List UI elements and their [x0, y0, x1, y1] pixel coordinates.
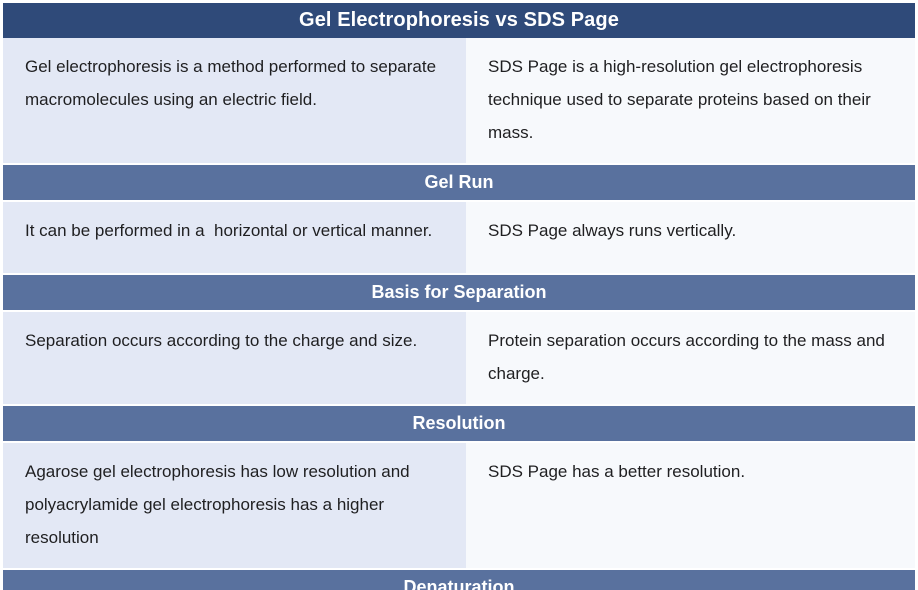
table-row: It can be performed in a horizontal or v…	[3, 202, 915, 273]
section-header-resolution: Resolution	[3, 406, 915, 441]
table-cell-left: Separation occurs according to the charg…	[3, 312, 466, 404]
section-header-label: Gel Run	[424, 172, 493, 193]
comparison-table: Gel Electrophoresis vs SDS Page Gel elec…	[0, 0, 918, 590]
cell-text: Gel electrophoresis is a method performe…	[25, 50, 444, 116]
section-header-label: Denaturation	[403, 577, 514, 590]
cell-text: SDS Page has a better resolution.	[488, 455, 893, 488]
table-row: Separation occurs according to the charg…	[3, 312, 915, 404]
table-row: Gel electrophoresis is a method performe…	[3, 38, 915, 163]
cell-text: SDS Page is a high-resolution gel electr…	[488, 50, 893, 149]
cell-text: Protein separation occurs according to t…	[488, 324, 893, 390]
cell-text: Separation occurs according to the charg…	[25, 324, 444, 357]
table-cell-right: SDS Page has a better resolution.	[466, 443, 915, 568]
table-row: Agarose gel electrophoresis has low reso…	[3, 443, 915, 568]
section-header-denaturation: Denaturation	[3, 570, 915, 590]
table-cell-right: Protein separation occurs according to t…	[466, 312, 915, 404]
table-title-bar: Gel Electrophoresis vs SDS Page	[3, 3, 915, 38]
table-cell-right: SDS Page always runs vertically.	[466, 202, 915, 273]
section-header-basis-for-separation: Basis for Separation	[3, 275, 915, 310]
table-cell-left: Agarose gel electrophoresis has low reso…	[3, 443, 466, 568]
cell-text: SDS Page always runs vertically.	[488, 214, 893, 247]
section-header-label: Basis for Separation	[371, 282, 546, 303]
table-cell-left: It can be performed in a horizontal or v…	[3, 202, 466, 273]
table-cell-right: SDS Page is a high-resolution gel electr…	[466, 38, 915, 163]
cell-text: Agarose gel electrophoresis has low reso…	[25, 455, 444, 554]
section-header-label: Resolution	[413, 413, 506, 434]
section-header-gel-run: Gel Run	[3, 165, 915, 200]
cell-text: It can be performed in a horizontal or v…	[25, 214, 444, 247]
table-cell-left: Gel electrophoresis is a method performe…	[3, 38, 466, 163]
page-title: Gel Electrophoresis vs SDS Page	[299, 9, 619, 32]
